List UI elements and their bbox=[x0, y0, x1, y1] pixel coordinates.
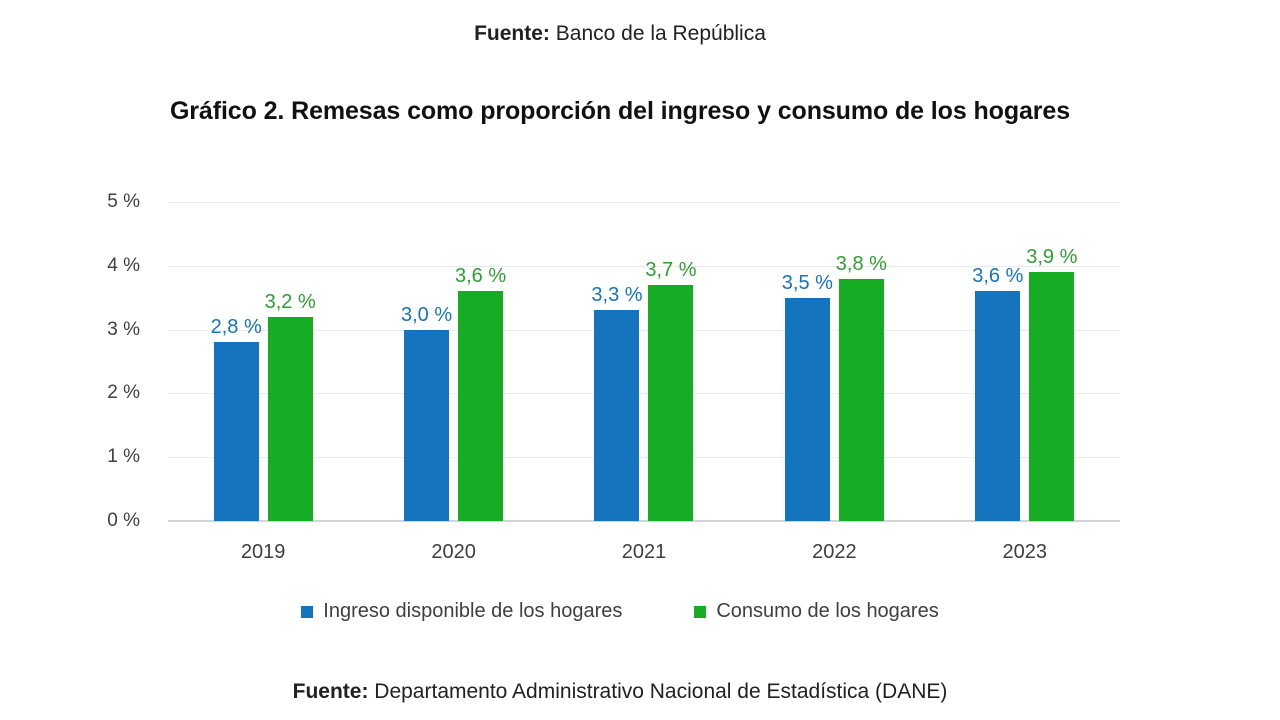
x-axis-labels: 20192020202120222023 bbox=[168, 531, 1120, 571]
chart-title: Gráfico 2. Remesas como proporción del i… bbox=[0, 97, 1240, 126]
bar-wrapper: 3,9 % bbox=[1029, 202, 1074, 521]
x-axis-tick-label: 2019 bbox=[168, 541, 358, 564]
bar[interactable]: 2,8 % bbox=[214, 342, 259, 521]
bar-value-label: 3,6 % bbox=[972, 266, 1023, 286]
source-note-top-label: Fuente: bbox=[474, 22, 550, 45]
bar[interactable]: 3,8 % bbox=[839, 279, 884, 521]
bar-value-label: 3,5 % bbox=[782, 273, 833, 293]
bar-wrapper: 3,8 % bbox=[839, 202, 884, 521]
bar-group: 3,5 %3,8 % bbox=[739, 202, 929, 521]
bar[interactable]: 3,0 % bbox=[404, 330, 449, 521]
y-axis-labels: 5 %4 %3 %2 %1 %0 % bbox=[0, 202, 152, 521]
bar-chart: 5 %4 %3 %2 %1 %0 % 2,8 %3,2 %3,0 %3,6 %3… bbox=[0, 160, 1280, 660]
bar[interactable]: 3,9 % bbox=[1029, 272, 1074, 521]
chart-page: Fuente: Banco de la República Gráfico 2.… bbox=[0, 0, 1280, 720]
bar-wrapper: 2,8 % bbox=[214, 202, 259, 521]
bar-wrapper: 3,0 % bbox=[404, 202, 449, 521]
bar-wrapper: 3,7 % bbox=[648, 202, 693, 521]
chart-legend: Ingreso disponible de los hogaresConsumo… bbox=[0, 600, 1240, 623]
x-axis-tick-label: 2021 bbox=[549, 541, 739, 564]
legend-swatch-icon bbox=[694, 606, 706, 618]
bar-value-label: 3,7 % bbox=[645, 260, 696, 280]
source-note-bottom-label: Fuente: bbox=[293, 680, 369, 703]
bar-group: 3,0 %3,6 % bbox=[358, 202, 548, 521]
bar-value-label: 3,8 % bbox=[836, 254, 887, 274]
bar-value-label: 3,2 % bbox=[265, 292, 316, 312]
source-note-top-text: Banco de la República bbox=[550, 22, 766, 45]
bar-group: 2,8 %3,2 % bbox=[168, 202, 358, 521]
source-note-top: Fuente: Banco de la República bbox=[0, 22, 1240, 46]
bar-value-label: 3,9 % bbox=[1026, 247, 1077, 267]
bar-group: 3,6 %3,9 % bbox=[930, 202, 1120, 521]
bar[interactable]: 3,2 % bbox=[268, 317, 313, 521]
bar[interactable]: 3,3 % bbox=[594, 310, 639, 521]
bar-wrapper: 3,6 % bbox=[458, 202, 503, 521]
bar[interactable]: 3,6 % bbox=[458, 291, 503, 521]
bar-value-label: 3,3 % bbox=[591, 285, 642, 305]
bar-groups: 2,8 %3,2 %3,0 %3,6 %3,3 %3,7 %3,5 %3,8 %… bbox=[168, 202, 1120, 521]
source-note-bottom: Fuente: Departamento Administrativo Naci… bbox=[0, 680, 1240, 704]
y-axis-tick-label: 0 % bbox=[0, 510, 152, 532]
bar-wrapper: 3,2 % bbox=[268, 202, 313, 521]
legend-label: Ingreso disponible de los hogares bbox=[323, 600, 622, 623]
bar-value-label: 2,8 % bbox=[211, 317, 262, 337]
legend-swatch-icon bbox=[301, 606, 313, 618]
legend-item[interactable]: Consumo de los hogares bbox=[694, 600, 938, 623]
x-axis-tick-label: 2022 bbox=[739, 541, 929, 564]
y-axis-tick-label: 2 % bbox=[0, 382, 152, 404]
bar-wrapper: 3,5 % bbox=[785, 202, 830, 521]
x-axis-tick-label: 2023 bbox=[930, 541, 1120, 564]
bar-value-label: 3,6 % bbox=[455, 266, 506, 286]
bar-wrapper: 3,6 % bbox=[975, 202, 1020, 521]
legend-label: Consumo de los hogares bbox=[716, 600, 938, 623]
bar-wrapper: 3,3 % bbox=[594, 202, 639, 521]
bar[interactable]: 3,7 % bbox=[648, 285, 693, 521]
bar-group: 3,3 %3,7 % bbox=[549, 202, 739, 521]
y-axis-tick-label: 4 % bbox=[0, 255, 152, 277]
bar-value-label: 3,0 % bbox=[401, 305, 452, 325]
x-axis-tick-label: 2020 bbox=[358, 541, 548, 564]
y-axis-tick-label: 3 % bbox=[0, 319, 152, 341]
bar[interactable]: 3,5 % bbox=[785, 298, 830, 521]
y-axis-tick-label: 5 % bbox=[0, 191, 152, 213]
legend-item[interactable]: Ingreso disponible de los hogares bbox=[301, 600, 622, 623]
source-note-bottom-text: Departamento Administrativo Nacional de … bbox=[368, 680, 947, 703]
bar[interactable]: 3,6 % bbox=[975, 291, 1020, 521]
y-axis-tick-label: 1 % bbox=[0, 446, 152, 468]
